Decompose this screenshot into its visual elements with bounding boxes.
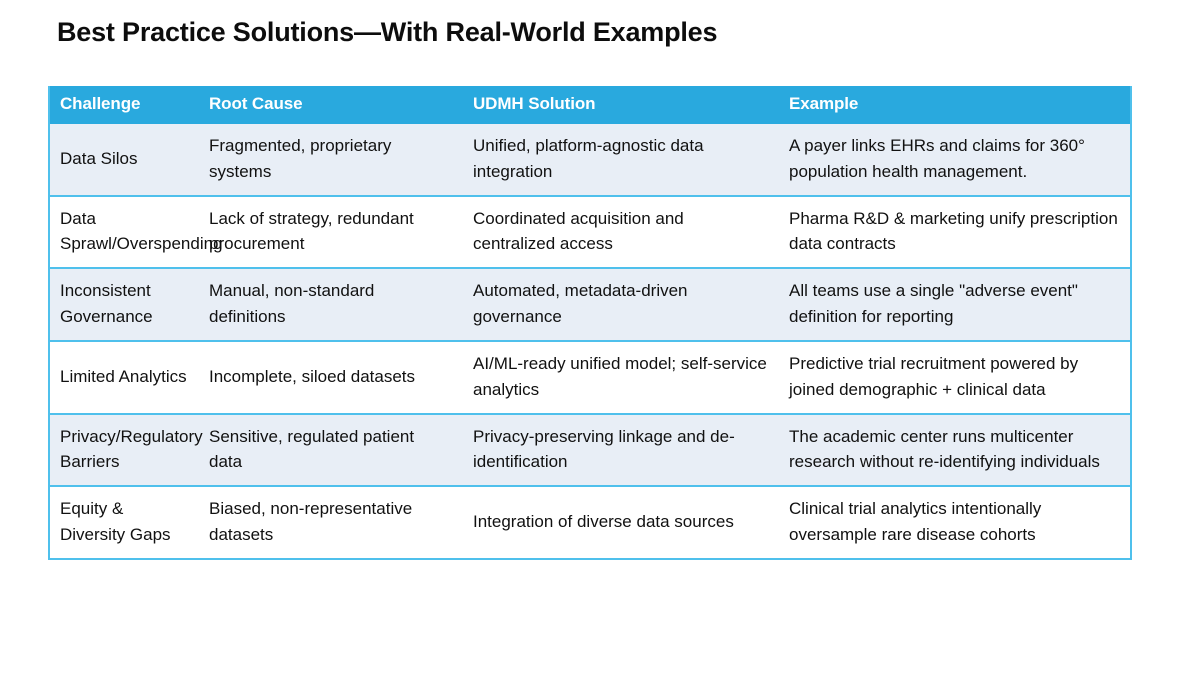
- cell-example: Clinical trial analytics intentionally o…: [779, 486, 1131, 559]
- cell-root-cause: Manual, non-standard definitions: [199, 268, 463, 341]
- cell-root-cause: Incomplete, siloed datasets: [199, 341, 463, 414]
- cell-challenge: Limited Analytics: [49, 341, 199, 414]
- cell-solution: Automated, metadata-driven governance: [463, 268, 779, 341]
- cell-solution: AI/ML-ready unified model; self-service …: [463, 341, 779, 414]
- cell-challenge: Inconsistent Governance: [49, 268, 199, 341]
- column-header-example[interactable]: Example: [779, 86, 1131, 124]
- cell-challenge: Data Silos: [49, 124, 199, 196]
- table-body: Data Silos Fragmented, proprietary syste…: [49, 124, 1131, 559]
- table-row: Data Sprawl/Overspending Lack of strateg…: [49, 196, 1131, 269]
- cell-solution: Unified, platform-agnostic data integrat…: [463, 124, 779, 196]
- table-row: Privacy/Regulatory Barriers Sensitive, r…: [49, 414, 1131, 487]
- cell-challenge: Data Sprawl/Overspending: [49, 196, 199, 269]
- cell-root-cause: Sensitive, regulated patient data: [199, 414, 463, 487]
- cell-root-cause: Fragmented, proprietary systems: [199, 124, 463, 196]
- cell-example: All teams use a single "adverse event" d…: [779, 268, 1131, 341]
- table-row: Data Silos Fragmented, proprietary syste…: [49, 124, 1131, 196]
- cell-example: The academic center runs multicenter res…: [779, 414, 1131, 487]
- cell-challenge: Privacy/Regulatory Barriers: [49, 414, 199, 487]
- column-header-udmh-solution[interactable]: UDMH Solution: [463, 86, 779, 124]
- table-row: Equity & Diversity Gaps Biased, non-repr…: [49, 486, 1131, 559]
- table-header: Challenge Root Cause UDMH Solution Examp…: [49, 86, 1131, 124]
- best-practice-table-container: Challenge Root Cause UDMH Solution Examp…: [48, 86, 1130, 560]
- table-header-row: Challenge Root Cause UDMH Solution Examp…: [49, 86, 1131, 124]
- cell-solution: Integration of diverse data sources: [463, 486, 779, 559]
- slide-page: Best Practice Solutions—With Real-World …: [0, 0, 1200, 675]
- column-header-root-cause[interactable]: Root Cause: [199, 86, 463, 124]
- best-practice-table: Challenge Root Cause UDMH Solution Examp…: [48, 86, 1132, 560]
- page-title: Best Practice Solutions—With Real-World …: [57, 17, 717, 48]
- cell-solution: Coordinated acquisition and centralized …: [463, 196, 779, 269]
- cell-example: A payer links EHRs and claims for 360° p…: [779, 124, 1131, 196]
- cell-root-cause: Lack of strategy, redundant procurement: [199, 196, 463, 269]
- cell-example: Pharma R&D & marketing unify prescriptio…: [779, 196, 1131, 269]
- table-row: Limited Analytics Incomplete, siloed dat…: [49, 341, 1131, 414]
- cell-challenge: Equity & Diversity Gaps: [49, 486, 199, 559]
- table-row: Inconsistent Governance Manual, non-stan…: [49, 268, 1131, 341]
- column-header-challenge[interactable]: Challenge: [49, 86, 199, 124]
- cell-solution: Privacy-preserving linkage and de-identi…: [463, 414, 779, 487]
- cell-example: Predictive trial recruitment powered by …: [779, 341, 1131, 414]
- cell-root-cause: Biased, non-representative datasets: [199, 486, 463, 559]
